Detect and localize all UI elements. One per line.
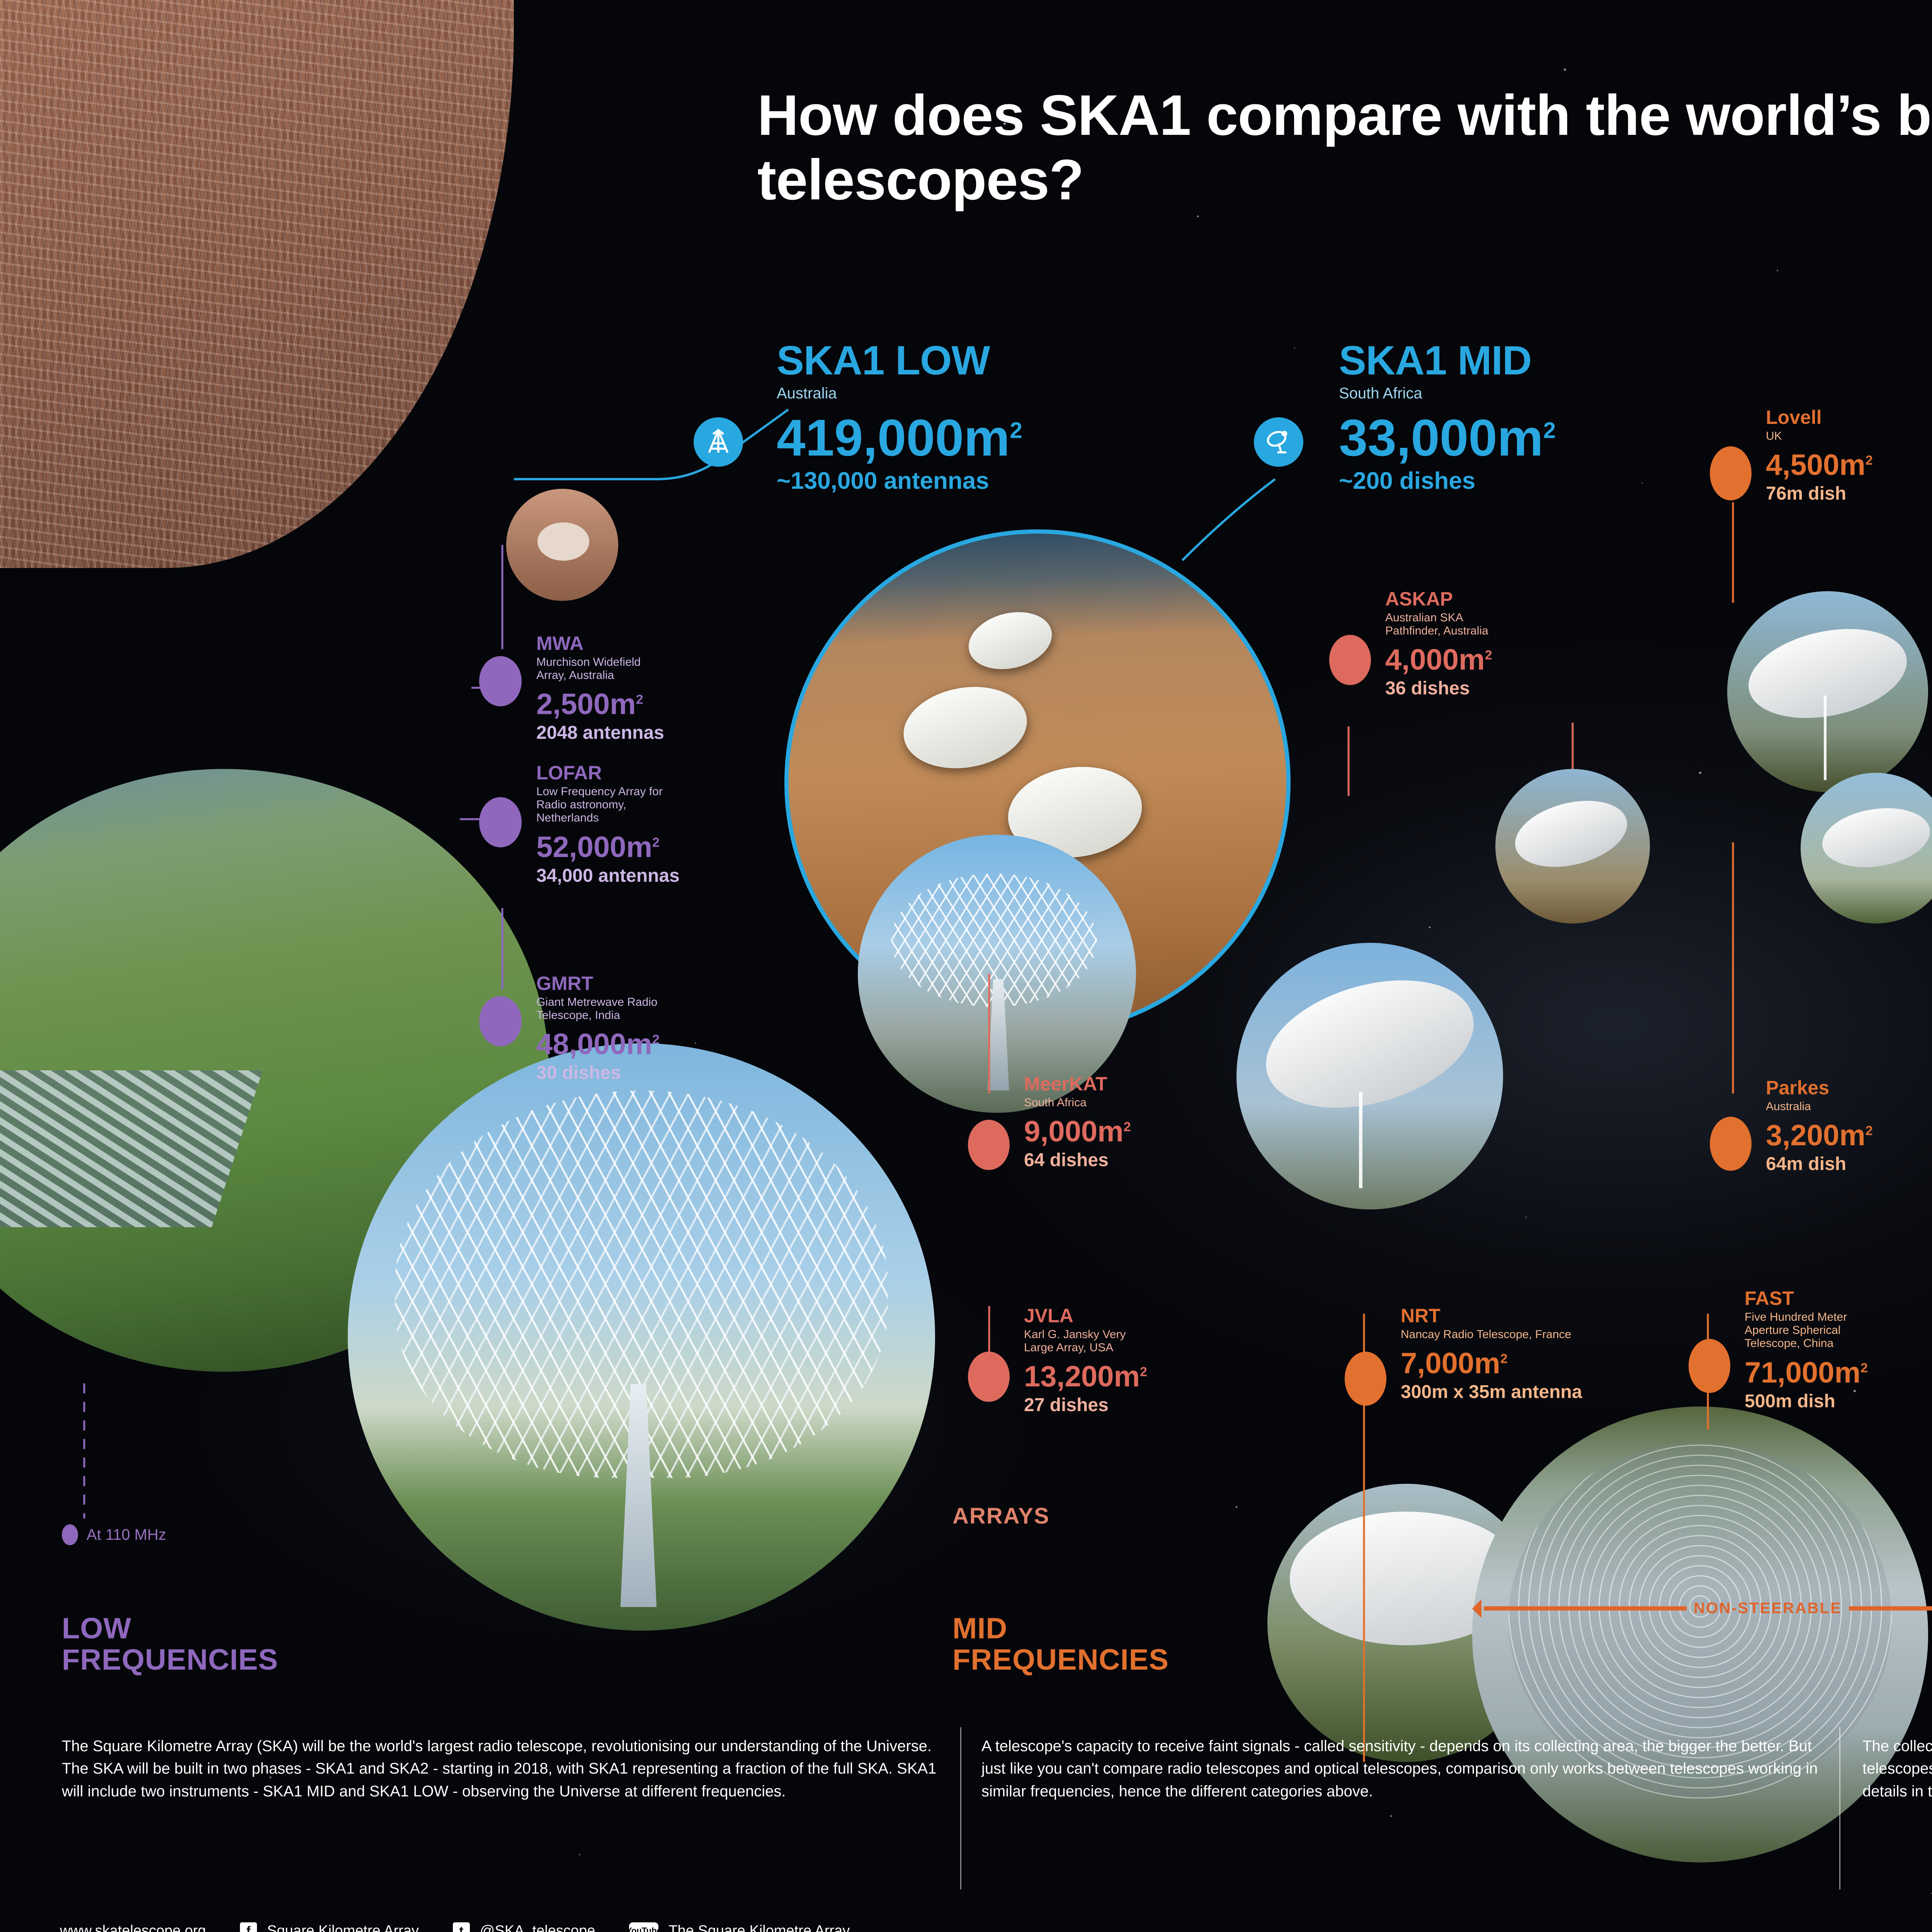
divider-2 — [1839, 1727, 1840, 1889]
lovell-detail: 76m dish — [1766, 485, 1873, 503]
youtube-icon[interactable]: YouTube — [629, 1922, 658, 1932]
jvla-area: 13,200m2 — [1024, 1362, 1147, 1391]
band-low-frequencies: LOW FREQUENCIES — [62, 1613, 278, 1675]
meerkat-photo — [1236, 943, 1503, 1209]
non-steerable-label: NON-STEERABLE — [1694, 1600, 1842, 1617]
website-link[interactable]: www.skatelescope.org — [60, 1923, 206, 1932]
mwa-detail: 2048 antennas — [536, 724, 664, 742]
jvla-detail: 27 dishes — [1024, 1396, 1147, 1415]
antenna-icon — [694, 417, 743, 467]
facebook-icon[interactable]: f — [240, 1922, 257, 1932]
footer-copy-1: The Square Kilometre Array (SKA) will be… — [62, 1735, 947, 1803]
mwa-marker-dot — [479, 656, 522, 706]
lovell-marker-dot — [1710, 446, 1752, 500]
lovell-sub: UK — [1766, 430, 1873, 443]
lofar-area: 52,000m2 — [536, 833, 680, 862]
askap-photo — [1495, 769, 1650, 923]
fast-name: FAST — [1745, 1289, 1868, 1308]
category-arrays: ARRAYS — [952, 1503, 1050, 1529]
askap-name: ASKAP — [1385, 589, 1492, 609]
meerkat-sub: South Africa — [1024, 1096, 1131, 1109]
fast-marker-dot — [1689, 1339, 1730, 1393]
gmrt-sub: Giant Metrewave Radio Telescope, India — [536, 996, 660, 1022]
lofar-name: LOFAR — [536, 763, 680, 782]
nrt-marker-dot — [1345, 1352, 1386, 1406]
gmrt-marker-dot — [479, 996, 522, 1046]
hero-mid-area: 33,000m2 — [1339, 412, 1556, 464]
twitter-label[interactable]: @SKA_telescope — [480, 1923, 595, 1932]
hero-low-area: 419,000m2 — [777, 412, 1022, 464]
meerkat-detail: 64 dishes — [1024, 1151, 1131, 1170]
parkes-detail: 64m dish — [1766, 1155, 1873, 1173]
legend-label: At 110 MHz — [87, 1526, 166, 1544]
mwa-area: 2,500m2 — [536, 690, 664, 719]
hero-low-detail: ~130,000 antennas — [777, 467, 1022, 495]
askap-detail: 36 dishes — [1385, 679, 1492, 698]
nrt-name: NRT — [1401, 1306, 1582, 1325]
gmrt-detail: 30 dishes — [536, 1064, 660, 1082]
ska1-mid-antenna-photo — [858, 835, 1136, 1113]
nrt-detail: 300m x 35m antenna — [1401, 1383, 1582, 1401]
lovell-area: 4,500m2 — [1766, 451, 1873, 480]
legend-at-110mhz: At 110 MHz — [62, 1524, 166, 1545]
gmrt-area: 48,000m2 — [536, 1030, 660, 1059]
jvla-name: JVLA — [1024, 1306, 1147, 1325]
infographic-canvas: SKA SQUARE KILOMETRE ARRAY How does SKA1… — [0, 0, 1932, 1932]
arrow-left-icon — [1484, 1606, 1687, 1611]
band-mid-frequencies: MID FREQUENCIES — [952, 1613, 1169, 1675]
parkes-photo — [1801, 773, 1932, 923]
parkes-area: 3,200m2 — [1766, 1121, 1873, 1150]
fast-detail: 500m dish — [1745, 1392, 1868, 1411]
parkes-name: Parkes — [1766, 1078, 1873, 1097]
page-title: How does SKA1 compare with the world’s b… — [757, 83, 1932, 212]
parkes-sub: Australia — [1766, 1100, 1873, 1113]
meerkat-marker-dot — [968, 1120, 1010, 1170]
nrt-sub: Nancay Radio Telescope, France — [1401, 1328, 1582, 1341]
legend-dot-icon — [62, 1524, 78, 1545]
lovell-name: Lovell — [1766, 408, 1873, 427]
jvla-marker-dot — [968, 1352, 1010, 1402]
gmrt-name: GMRT — [536, 974, 660, 993]
askap-sub: Australian SKA Pathfinder, Australia — [1385, 611, 1492, 638]
parkes-marker-dot — [1710, 1117, 1752, 1171]
arrow-right-icon — [1849, 1606, 1932, 1611]
fast-area: 71,000m2 — [1745, 1358, 1868, 1388]
dish-icon — [1254, 417, 1303, 467]
mwa-name: MWA — [536, 634, 664, 653]
mwa-sub: Murchison Widefield Array, Australia — [536, 656, 664, 682]
askap-marker-dot — [1329, 635, 1371, 685]
hero-low-name: SKA1 LOW — [777, 340, 1022, 381]
lofar-sub: Low Frequency Array for Radio astronomy,… — [536, 785, 680, 825]
hero-mid-detail: ~200 dishes — [1339, 467, 1556, 495]
lofar-detail: 34,000 antennas — [536, 867, 680, 885]
gmrt-dish-photo — [348, 1043, 935, 1631]
lofar-marker-dot — [479, 797, 522, 847]
hero-mid-name: SKA1 MID — [1339, 340, 1556, 381]
hero-ska1-mid: SKA1 MID South Africa 33,000m2 ~200 dish… — [1339, 340, 1556, 495]
divider-1 — [960, 1727, 961, 1889]
mwa-photo — [506, 489, 618, 601]
lovell-photo — [1727, 591, 1928, 792]
hero-mid-location: South Africa — [1339, 385, 1556, 402]
footer-copy-3: The collecting area is just one aspect o… — [1862, 1735, 1932, 1803]
fast-sub: Five Hundred Meter Aperture Spherical Te… — [1745, 1311, 1868, 1350]
hero-low-location: Australia — [777, 385, 1022, 402]
jvla-sub: Karl G. Jansky Very Large Array, USA — [1024, 1328, 1147, 1354]
youtube-label[interactable]: The Square Kilometre Array — [668, 1923, 850, 1932]
meerkat-area: 9,000m2 — [1024, 1117, 1131, 1146]
meerkat-name: MeerKAT — [1024, 1074, 1131, 1094]
askap-area: 4,000m2 — [1385, 645, 1492, 675]
non-steerable-marker: NON-STEERABLE — [1484, 1600, 1932, 1617]
footer-bar: www.skatelescope.org f Square Kilometre … — [60, 1922, 850, 1932]
mwa-tile-photo — [0, 0, 514, 568]
hero-ska1-low: SKA1 LOW Australia 419,000m2 ~130,000 an… — [777, 340, 1022, 495]
nrt-area: 7,000m2 — [1401, 1349, 1582, 1378]
footer-copy-2: A telescope's capacity to receive faint … — [981, 1735, 1824, 1803]
facebook-label[interactable]: Square Kilometre Array — [267, 1923, 419, 1932]
twitter-icon[interactable]: t — [453, 1922, 470, 1932]
